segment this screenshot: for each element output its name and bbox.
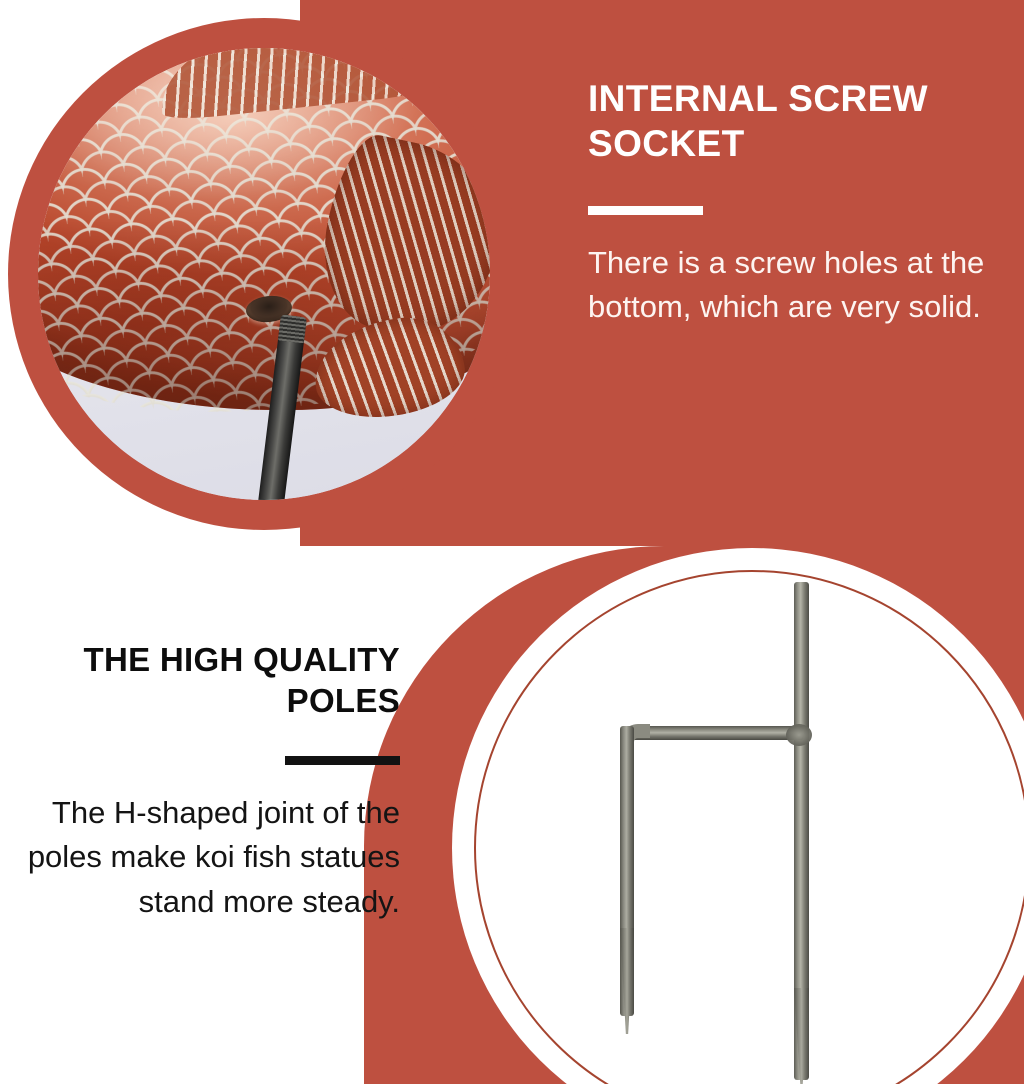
top-section-heading: INTERNAL SCREW SOCKET <box>588 76 988 166</box>
pole-weld-joint <box>786 724 812 746</box>
top-section-body: There is a screw holes at the bottom, wh… <box>588 241 988 329</box>
bottom-section-heading: THE HIGH QUALITY POLES <box>0 640 400 722</box>
top-section-divider <box>588 206 703 215</box>
infographic-page: INTERNAL SCREW SOCKET There is a screw h… <box>0 0 1024 1084</box>
bottom-text-block: THE HIGH QUALITY POLES The H-shaped join… <box>0 640 400 925</box>
pole-threaded-tip <box>278 314 307 343</box>
h-shaped-pole-photo <box>474 548 1024 1084</box>
pole-horizontal-crossbar <box>626 726 804 740</box>
top-text-block: INTERNAL SCREW SOCKET There is a screw h… <box>588 76 988 329</box>
fish-photo-content <box>38 48 490 500</box>
bottom-section-body: The H-shaped joint of the poles make koi… <box>0 791 400 925</box>
koi-fish-screw-socket-photo <box>38 48 490 500</box>
bottom-section-divider <box>285 756 400 765</box>
screw-socket-photo-ring <box>8 18 520 530</box>
